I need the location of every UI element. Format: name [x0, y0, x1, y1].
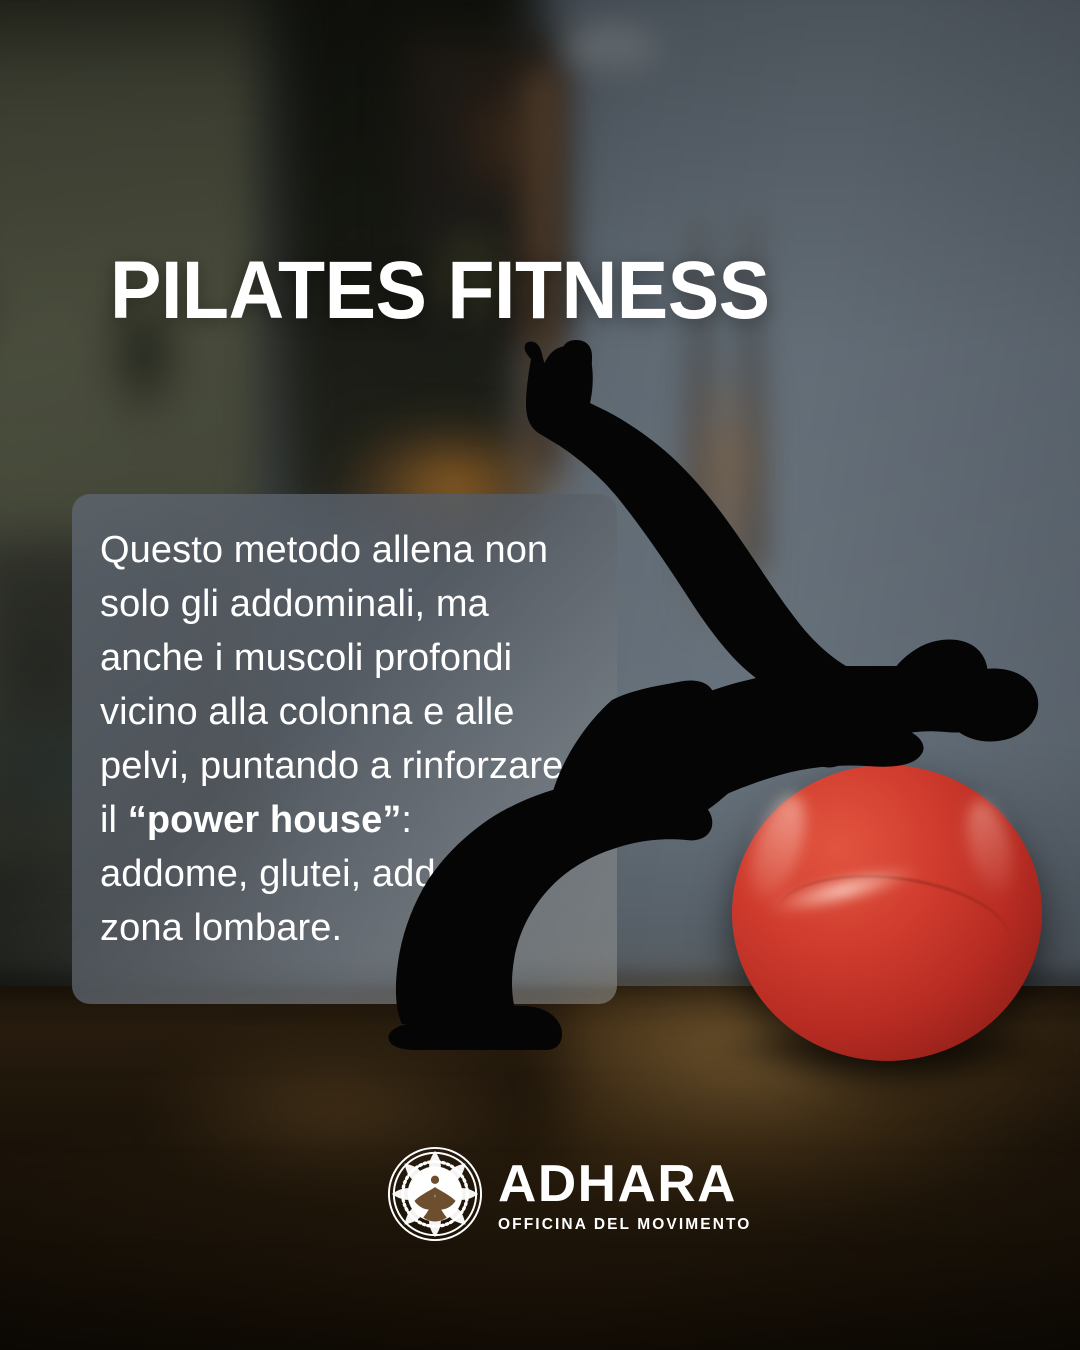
hair-bun-path — [945, 669, 1038, 742]
brand-logo: ADHARA OFFICINA DEL MOVIMENTO — [386, 1145, 751, 1243]
brand-name: ADHARA — [498, 1160, 757, 1210]
mandala-figure-icon — [386, 1145, 484, 1243]
brand-tagline: OFFICINA DEL MOVIMENTO — [498, 1217, 751, 1233]
page-title: PILATES FITNESS — [110, 250, 770, 332]
social-post-canvas: Questo metodo allena non solo gli addomi… — [0, 0, 1080, 1350]
brand-wordmark: ADHARA OFFICINA DEL MOVIMENTO — [498, 1156, 751, 1232]
